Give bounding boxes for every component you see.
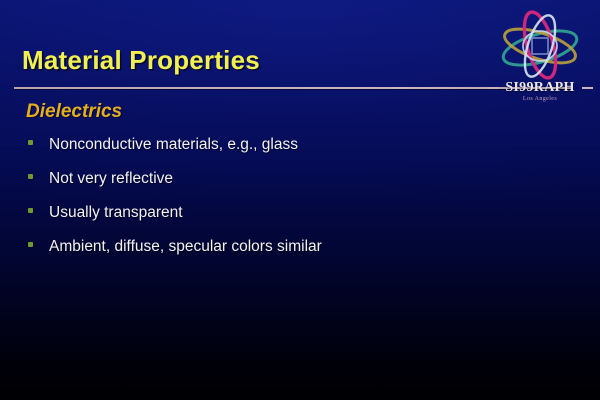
- bullet-text: Usually transparent: [49, 204, 183, 222]
- siggraph-logo: SI99RAPH Los Angeles: [486, 8, 594, 108]
- bullet-text: Nonconductive materials, e.g., glass: [49, 136, 298, 154]
- bullet-dot-icon: [28, 140, 33, 145]
- bullet-dot-icon: [28, 174, 33, 179]
- logo-city-label: Los Angeles: [486, 96, 594, 102]
- list-item: Usually transparent: [28, 204, 508, 238]
- presentation-slide: Material Properties Dielectrics Noncondu…: [0, 0, 600, 400]
- bullet-dot-icon: [28, 242, 33, 247]
- list-item: Not very reflective: [28, 170, 508, 204]
- list-item: Ambient, diffuse, specular colors simila…: [28, 238, 508, 272]
- bullet-list: Nonconductive materials, e.g., glass Not…: [28, 136, 508, 272]
- bullet-dot-icon: [28, 208, 33, 213]
- siggraph-orbital-rings-icon: [494, 8, 586, 82]
- list-item: Nonconductive materials, e.g., glass: [28, 136, 508, 170]
- bullet-text: Not very reflective: [49, 170, 173, 188]
- slide-title: Material Properties: [22, 45, 260, 76]
- logo-wordmark: SI99RAPH: [486, 80, 594, 96]
- slide-subtitle: Dielectrics: [26, 101, 122, 123]
- bullet-text: Ambient, diffuse, specular colors simila…: [49, 238, 322, 256]
